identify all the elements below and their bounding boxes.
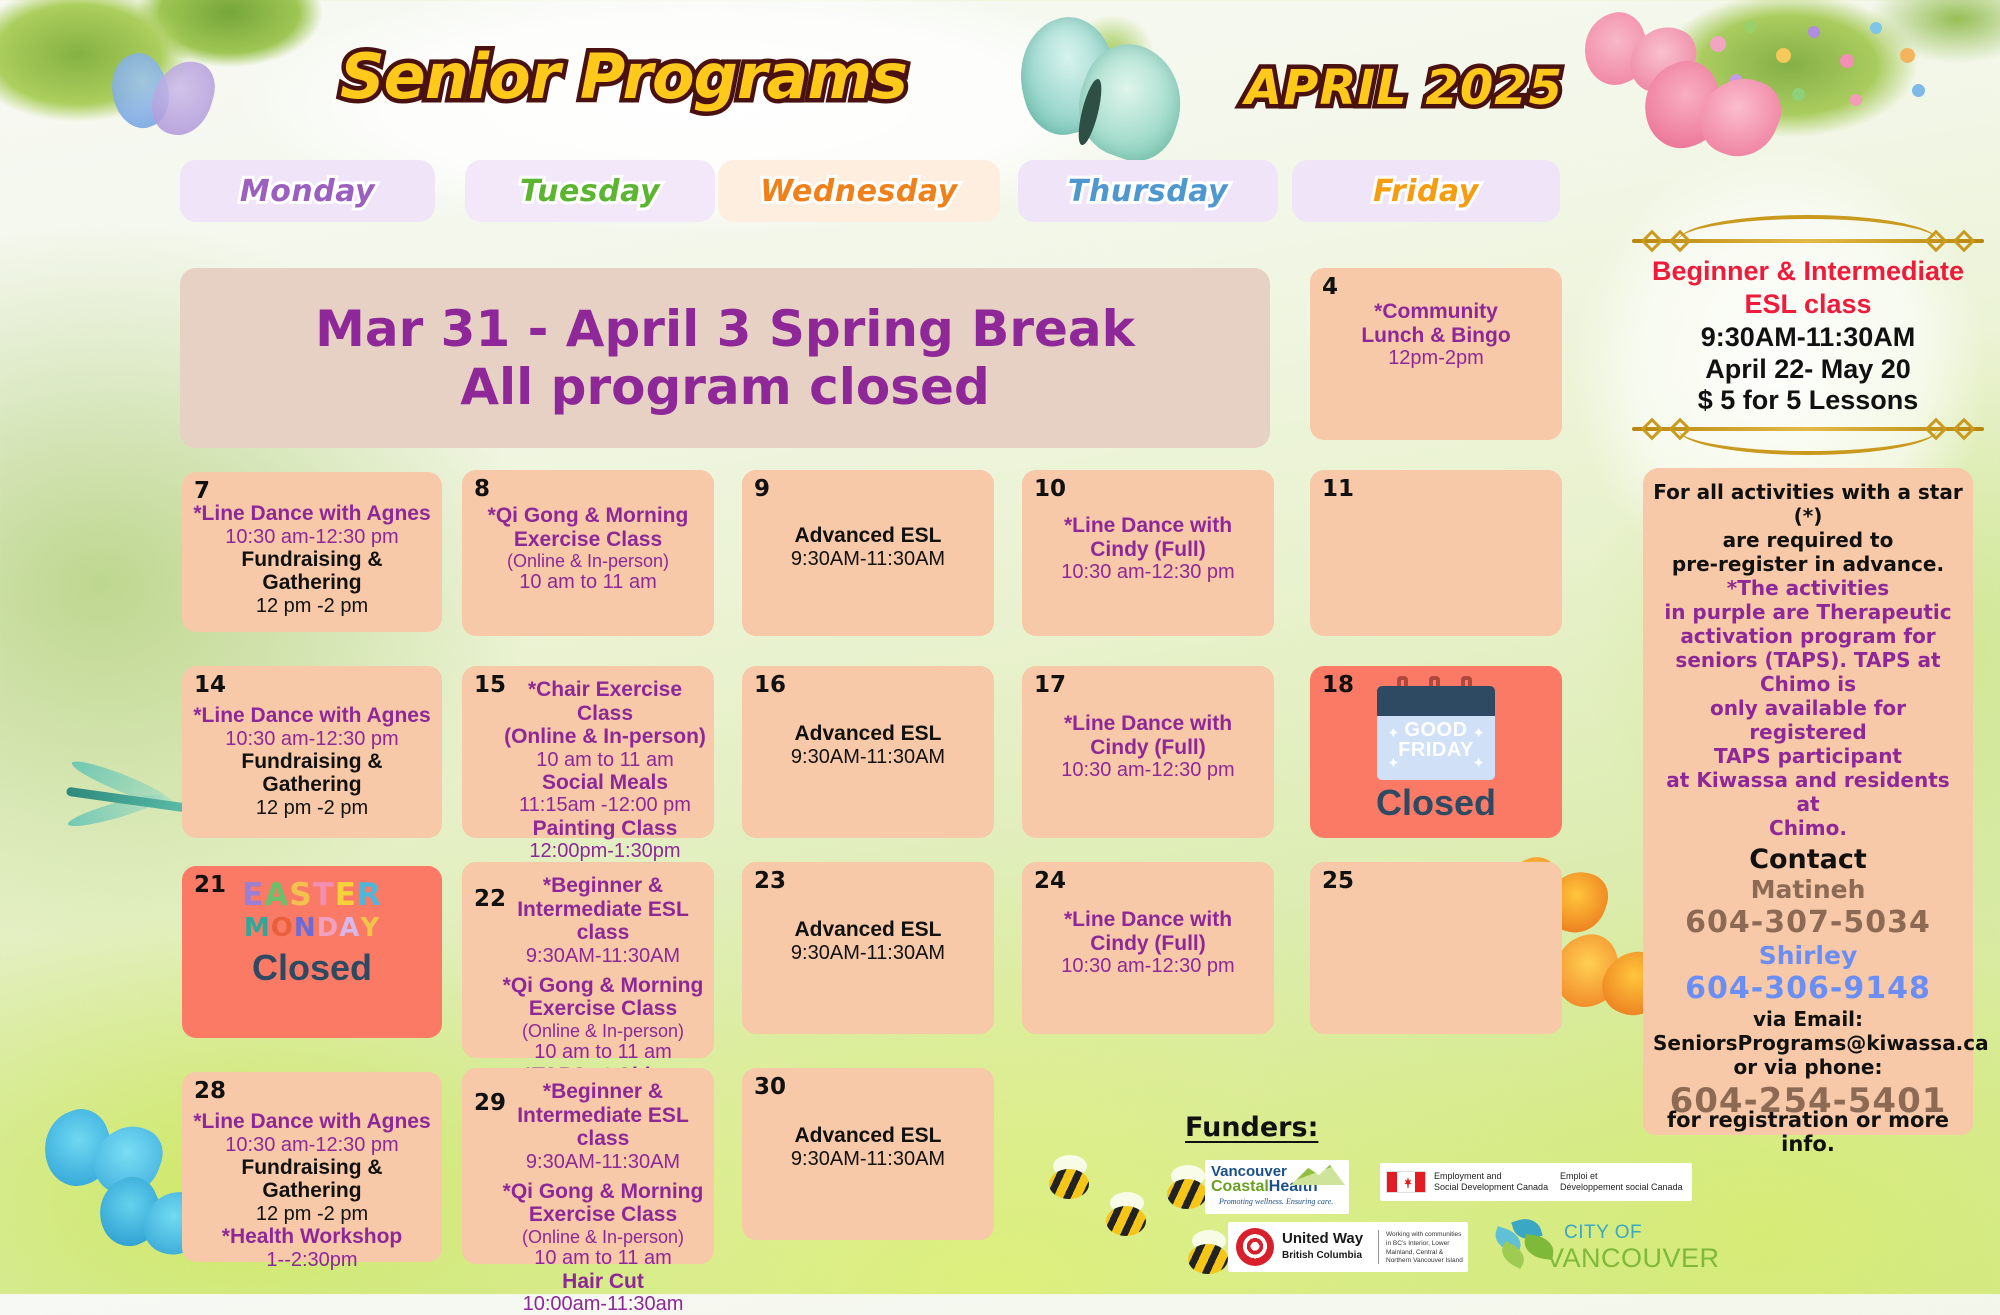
butterfly-pink-icon-1 — [1580, 10, 1700, 120]
day-number: 22 — [474, 886, 506, 912]
calendar-cell-24[interactable]: 24 *Line Dance with Cindy (Full) 10:30 a… — [1022, 862, 1274, 1034]
event-title: *Qi Gong & Morning — [500, 974, 706, 998]
day-number: 11 — [1322, 476, 1354, 502]
calendar-cell-18[interactable]: 18 ✦ ✦ ✦ ✦ GOOD FRIDAY Closed — [1310, 666, 1562, 838]
event-title: *Health Workshop — [190, 1225, 434, 1249]
event-time: 10:00am-11:30am — [500, 1293, 706, 1315]
day-number: 4 — [1322, 274, 1338, 300]
event-time: 12pm-2pm — [1318, 347, 1554, 369]
event-title: Advanced ESL — [750, 918, 986, 942]
event-title: Advanced ESL — [750, 1124, 986, 1148]
logo-employment-social-development-canada: Employment and Social Development Canada… — [1380, 1163, 1692, 1201]
spring-break-line-1: Mar 31 - April 3 Spring Break — [315, 300, 1135, 358]
canada-flag-icon — [1386, 1171, 1426, 1193]
calendar-cell-22[interactable]: 22 *Beginner & Intermediate ESL class 9:… — [462, 862, 714, 1058]
contact-name-2: Shirley — [1653, 941, 1963, 971]
event-time: 9:30AM-11:30AM — [500, 945, 706, 967]
event-time: 10 am to 11 am — [500, 1041, 706, 1063]
info-text: pre-register in advance. — [1653, 552, 1963, 576]
ornament-divider-bottom — [1628, 416, 1988, 442]
event-title: *Qi Gong & Morning — [500, 1180, 706, 1204]
info-text: For all activities with a star (*) — [1653, 480, 1963, 528]
event-time: 9:30AM-11:30AM — [750, 942, 986, 964]
info-text-purple: in purple are Therapeutic — [1653, 600, 1963, 624]
calendar-cell-21[interactable]: 21 EASTER MONDAY Closed — [182, 866, 442, 1038]
event-title: Cindy (Full) — [1030, 736, 1266, 760]
contact-name-1: Matineh — [1653, 875, 1963, 905]
event-title: Advanced ESL — [750, 722, 986, 746]
event-note: (Online & In-person) — [500, 1227, 706, 1247]
event-title: Painting Class — [504, 817, 706, 841]
event-title: *Line Dance with — [1030, 514, 1266, 538]
event-time: 12 pm -2 pm — [190, 595, 434, 617]
event-title: (Online & In-person) — [504, 725, 706, 749]
calendar-cell-29[interactable]: 29 *Beginner & Intermediate ESL class 9:… — [462, 1068, 714, 1264]
info-panel-footer: for registration or more info. — [1643, 1108, 1973, 1156]
info-text-purple: only available for registered — [1653, 696, 1963, 744]
logo-vancouver-coastal-health: Vancouver CoastalHealth Promoting wellne… — [1205, 1160, 1349, 1214]
calendar-cell-10[interactable]: 10 *Line Dance with Cindy (Full) 10:30 a… — [1022, 470, 1274, 636]
dragonfly-icon — [48, 755, 198, 875]
day-number: 17 — [1034, 672, 1066, 698]
bee-icon-1 — [1045, 1155, 1115, 1215]
easter-word-monday: MONDAY — [190, 915, 434, 941]
event-title: *Qi Gong & Morning — [470, 504, 706, 528]
day-header-wednesday: Wednesday — [718, 160, 1000, 222]
event-title: Intermediate ESL class — [500, 898, 706, 945]
esdc-en-line-2: Social Development Canada — [1434, 1182, 1548, 1193]
uw-line-2: British Columbia — [1282, 1250, 1362, 1261]
esl-class-panel: Beginner & Intermediate ESL class 9:30AM… — [1628, 228, 1988, 442]
vch-line-2-coastal: Coastal — [1211, 1178, 1269, 1195]
event-time: 10:30 am-12:30 pm — [190, 1134, 434, 1156]
event-time: 10:30 am-12:30 pm — [1030, 955, 1266, 977]
info-text: are required to — [1653, 528, 1963, 552]
calendar-cell-17[interactable]: 17 *Line Dance with Cindy (Full) 10:30 a… — [1022, 666, 1274, 838]
event-time: 10 am to 11 am — [470, 571, 706, 593]
butterfly-blue-icon — [110, 48, 220, 158]
flower-cluster-decoration — [1700, 8, 1980, 158]
phone-label: or via phone: — [1653, 1055, 1963, 1079]
day-number: 28 — [194, 1078, 226, 1104]
event-title: Intermediate ESL class — [500, 1104, 706, 1151]
butterfly-teal-icon — [1010, 18, 1195, 183]
calendar-cell-16[interactable]: 16 Advanced ESL 9:30AM-11:30AM — [742, 666, 994, 838]
esdc-fr-line-2: Développement social Canada — [1560, 1182, 1683, 1193]
vch-tagline: Promoting wellness. Ensuring care. — [1205, 1195, 1349, 1206]
esl-price: $ 5 for 5 Lessons — [1628, 385, 1988, 416]
day-number: 18 — [1322, 672, 1354, 698]
event-time: 10:30 am-12:30 pm — [1030, 759, 1266, 781]
event-title: *Line Dance with Agnes — [190, 704, 434, 728]
event-title: Fundraising & Gathering — [190, 750, 434, 797]
event-time: 11:15am -12:00 pm — [504, 794, 706, 816]
event-title: *Beginner & — [500, 1080, 706, 1104]
info-text-purple: activation program for — [1653, 624, 1963, 648]
easter-word-easter: EASTER — [190, 880, 434, 911]
event-title: Cindy (Full) — [1030, 932, 1266, 956]
esdc-en-line-1: Employment and — [1434, 1171, 1548, 1182]
calendar-cell-30[interactable]: 30 Advanced ESL 9:30AM-11:30AM — [742, 1068, 994, 1240]
event-title: *Line Dance with — [1030, 712, 1266, 736]
esl-time: 9:30AM-11:30AM — [1628, 322, 1988, 353]
event-title: Social Meals — [504, 771, 706, 795]
calendar-cell-4[interactable]: 4 *Community Lunch & Bingo 12pm-2pm — [1310, 268, 1562, 440]
info-text-purple: TAPS participant — [1653, 744, 1963, 768]
day-number: 10 — [1034, 476, 1066, 502]
closed-label: Closed — [1318, 782, 1554, 824]
day-header-monday: Monday — [180, 160, 435, 222]
event-time: 9:30AM-11:30AM — [750, 746, 986, 768]
event-time: 12 pm -2 pm — [190, 1203, 434, 1225]
logo-united-way-bc: United Way British Columbia Working with… — [1228, 1222, 1468, 1272]
calendar-cell-15[interactable]: 15 *Chair Exercise Class (Online & In-pe… — [462, 666, 714, 838]
logo-city-of-vancouver: CITY OF VANCOUVER — [1490, 1218, 1680, 1278]
calendar-cell-28[interactable]: 28 *Line Dance with Agnes 10:30 am-12:30… — [182, 1072, 442, 1262]
esl-title-line-1: Beginner & Intermediate — [1628, 256, 1988, 286]
good-friday-calendar-icon: ✦ ✦ ✦ ✦ GOOD FRIDAY — [1377, 676, 1495, 780]
calendar-cell-8[interactable]: 8 *Qi Gong & Morning Exercise Class (Onl… — [462, 470, 714, 636]
info-text-purple: Chimo. — [1653, 816, 1963, 840]
event-title: Advanced ESL — [750, 524, 986, 548]
event-time: 10 am to 11 am — [504, 749, 706, 771]
day-number: 8 — [474, 476, 490, 502]
month-title: APRIL 2025 — [1245, 60, 1563, 116]
event-time: 10:30 am-12:30 pm — [1030, 561, 1266, 583]
calendar-cell-23[interactable]: 23 Advanced ESL 9:30AM-11:30AM — [742, 862, 994, 1034]
calendar-cell-25[interactable]: 25 — [1310, 862, 1562, 1034]
calendar-cell-14[interactable]: 14 *Line Dance with Agnes 10:30 am-12:30… — [182, 666, 442, 838]
page-title: Senior Programs — [340, 40, 907, 113]
good-friday-line-1: GOOD — [1404, 719, 1467, 741]
background-leaf-top-middle — [1040, 0, 1201, 121]
calendar-cell-11[interactable]: 11 — [1310, 470, 1562, 636]
info-text-purple: seniors (TAPS). TAPS at Chimo is — [1653, 648, 1963, 696]
event-title: Lunch & Bingo — [1318, 324, 1554, 348]
united-way-mark-icon — [1236, 1228, 1274, 1266]
background-leaf-top-left — [0, 0, 330, 170]
day-number: 14 — [194, 672, 226, 698]
day-header-friday: Friday — [1292, 160, 1560, 222]
event-title: *Beginner & — [500, 874, 706, 898]
esl-dates: April 22- May 20 — [1628, 354, 1988, 385]
event-time: 12:00pm-1:30pm — [504, 840, 706, 862]
info-text-purple: at Kiwassa and residents at — [1653, 768, 1963, 816]
good-friday-line-2: FRIDAY — [1398, 739, 1474, 761]
event-time: 10:30 am-12:30 pm — [190, 526, 434, 548]
day-number: 9 — [754, 476, 770, 502]
event-title: Exercise Class — [470, 528, 706, 552]
uw-line-1: United Way — [1282, 1230, 1363, 1247]
day-header-thursday: Thursday — [1018, 160, 1278, 222]
event-title: Fundraising & Gathering — [190, 1156, 434, 1203]
info-contact-panel: For all activities with a star (*) are r… — [1643, 468, 1973, 1135]
event-time: 10 am to 11 am — [500, 1247, 706, 1269]
day-number: 30 — [754, 1074, 786, 1100]
event-title: Hair Cut — [500, 1270, 706, 1294]
event-time: 9:30AM-11:30AM — [750, 548, 986, 570]
esl-title-line-2: ESL class — [1628, 289, 1988, 319]
day-number: 7 — [194, 478, 210, 504]
esdc-fr-line-1: Emploi et — [1560, 1171, 1683, 1182]
closed-label: Closed — [190, 947, 434, 989]
event-time: 10:30 am-12:30 pm — [190, 728, 434, 750]
day-number: 25 — [1322, 868, 1354, 894]
event-title: Exercise Class — [500, 997, 706, 1021]
contact-phone-2[interactable]: 604-306-9148 — [1653, 971, 1963, 1007]
event-time: 1--2:30pm — [190, 1249, 434, 1271]
uw-description: Working with communities in BC's Interio… — [1386, 1231, 1464, 1266]
event-time: 9:30AM-11:30AM — [750, 1148, 986, 1170]
day-number: 24 — [1034, 868, 1066, 894]
bee-icon-2 — [1100, 1190, 1170, 1250]
day-number: 15 — [474, 672, 506, 698]
event-title: *Community — [1318, 300, 1554, 324]
event-title: Fundraising & Gathering — [190, 548, 434, 595]
contact-heading: Contact — [1653, 844, 1963, 875]
day-number: 29 — [474, 1090, 506, 1116]
email-label: via Email: — [1653, 1007, 1963, 1031]
event-time: 12 pm -2 pm — [190, 797, 434, 819]
day-number: 23 — [754, 868, 786, 894]
info-text-purple: *The activities — [1653, 576, 1963, 600]
event-title: *Chair Exercise Class — [504, 678, 706, 725]
contact-phone-1[interactable]: 604-307-5034 — [1653, 905, 1963, 941]
event-title: *Line Dance with Agnes — [190, 502, 434, 526]
spring-break-line-2: All program closed — [315, 358, 1135, 416]
cov-line-2: VANCOUVER — [1546, 1243, 1720, 1274]
contact-email[interactable]: SeniorsPrograms@kiwassa.ca — [1653, 1031, 1963, 1055]
calendar-cell-9[interactable]: 9 Advanced ESL 9:30AM-11:30AM — [742, 470, 994, 636]
butterfly-cyan-icon-1 — [40, 1105, 165, 1220]
event-title: Cindy (Full) — [1030, 538, 1266, 562]
cov-line-1: CITY OF — [1564, 1222, 1642, 1244]
event-title: *Line Dance with — [1030, 908, 1266, 932]
event-note: (Online & In-person) — [500, 1021, 706, 1041]
event-time: 9:30AM-11:30AM — [500, 1151, 706, 1173]
day-header-tuesday: Tuesday — [465, 160, 715, 222]
day-number: 16 — [754, 672, 786, 698]
calendar-cell-7[interactable]: 7 *Line Dance with Agnes 10:30 am-12:30 … — [182, 472, 442, 632]
background-leaf-top-right — [1600, 0, 2000, 180]
event-title: Exercise Class — [500, 1203, 706, 1227]
spring-break-banner: Mar 31 - April 3 Spring Break All progra… — [180, 268, 1270, 448]
event-title: *Line Dance with Agnes — [190, 1110, 434, 1134]
day-number: 21 — [194, 872, 226, 898]
ornament-divider-top — [1628, 228, 1988, 254]
funders-heading: Funders: — [1185, 1112, 1318, 1143]
butterfly-pink-icon-2 — [1640, 55, 1785, 185]
event-note: (Online & In-person) — [470, 551, 706, 571]
